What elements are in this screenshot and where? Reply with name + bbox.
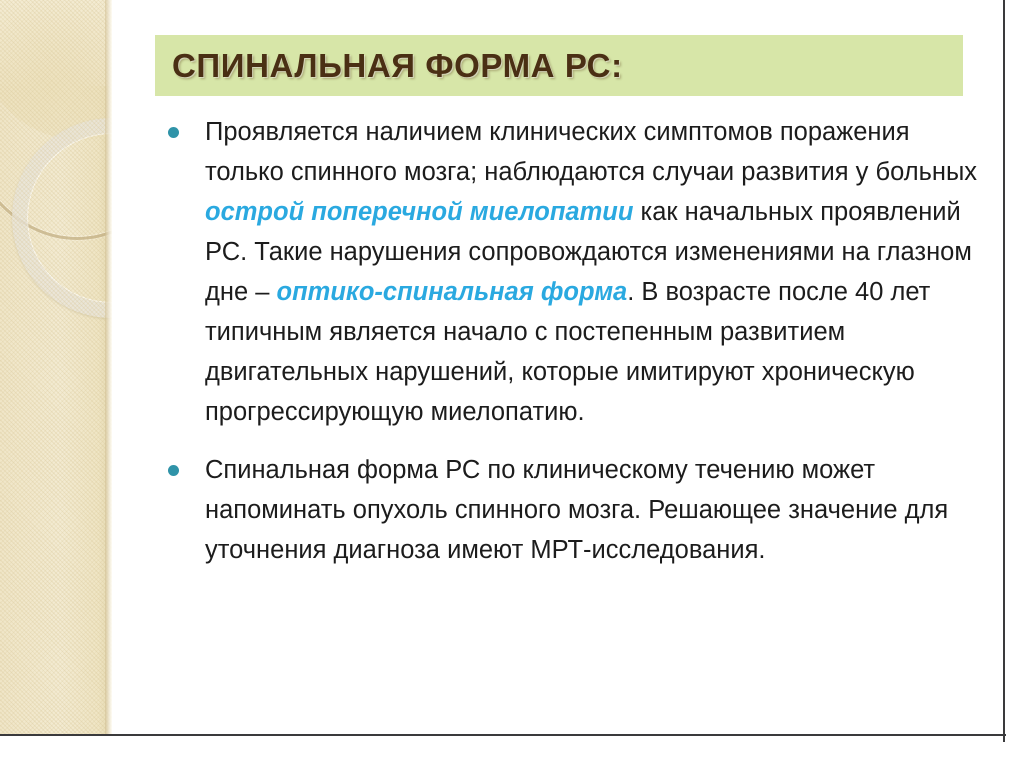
highlighted-term: оптико-спинальная форма xyxy=(277,278,628,306)
decorative-sidebar-band xyxy=(0,0,112,734)
slide-viewport: СПИНАЛЬНАЯ ФОРМА РС: Проявляется наличие… xyxy=(0,0,1024,767)
bullet-dot-icon xyxy=(168,127,179,138)
sidebar-right-edge xyxy=(105,0,112,734)
list-item: Проявляется наличием клинических симптом… xyxy=(155,112,985,432)
slide-right-border xyxy=(1003,0,1005,742)
slide-content: Проявляется наличием клинических симптом… xyxy=(155,112,985,588)
sidebar-texture-overlay xyxy=(0,0,112,734)
list-item: Спинальная форма РС по клиническому тече… xyxy=(155,450,985,570)
bullet-text-segment: Спинальная форма РС по клиническому тече… xyxy=(205,456,948,564)
slide-title: СПИНАЛЬНАЯ ФОРМА РС: xyxy=(155,47,623,85)
title-banner: СПИНАЛЬНАЯ ФОРМА РС: xyxy=(155,35,963,96)
bullet-text-segment: Проявляется наличием клинических симптом… xyxy=(205,118,977,186)
highlighted-term: острой поперечной миелопатии xyxy=(205,198,633,226)
slide-bottom-border xyxy=(0,734,1006,736)
bullet-dot-icon xyxy=(168,465,179,476)
bullet-list: Проявляется наличием клинических симптом… xyxy=(155,112,985,570)
